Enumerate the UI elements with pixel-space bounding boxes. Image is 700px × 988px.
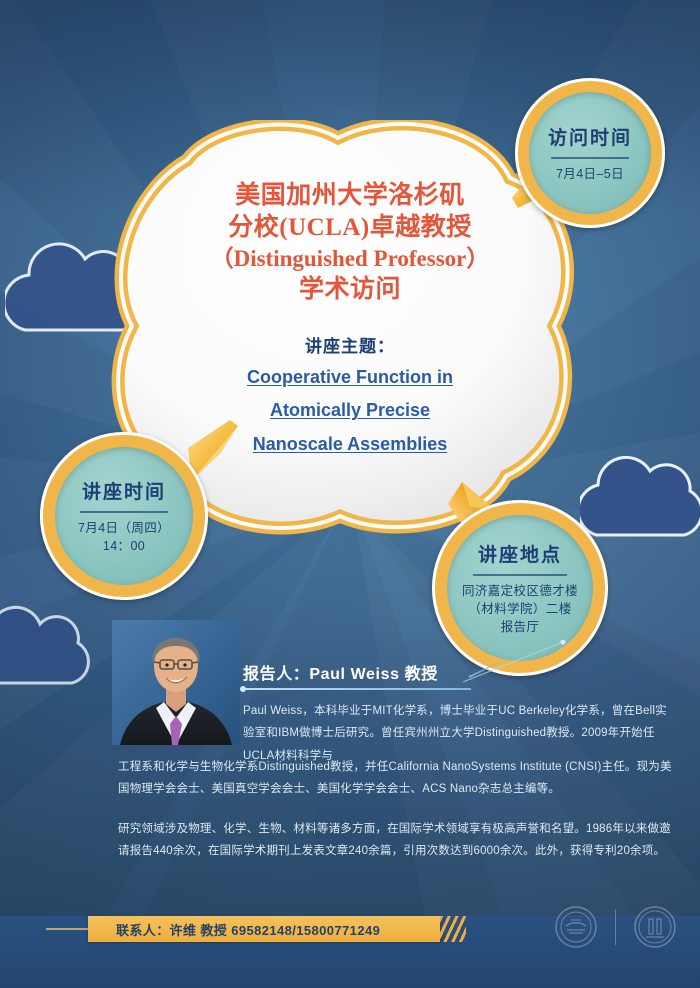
title-line-4: 学术访问: [299, 274, 401, 306]
lecture-place-divider: [473, 574, 566, 576]
lecture-place-bubble[interactable]: 讲座地点 同济嘉定校区德才楼 （材料学院）二楼 报告厅: [432, 500, 608, 676]
visit-time-value: 7月4日–5日: [556, 165, 624, 183]
cloud-decoration-right: [580, 440, 700, 560]
visit-time-heading: 访问时间: [548, 123, 632, 150]
visit-divider: [551, 157, 629, 159]
lecture-place-line-1: 同济嘉定校区德才楼: [462, 582, 578, 600]
logo-divider: [615, 909, 616, 945]
lecture-time-clock: 14：00: [103, 537, 145, 555]
topic-line-2: Atomically Precise: [270, 398, 430, 424]
title-line-1: 美国加州大学洛杉矶: [235, 180, 465, 212]
lecture-place-line-2: （材料学院）二楼: [468, 600, 571, 618]
lecture-place-line-3: 报告厅: [501, 618, 540, 636]
topic-line-3: Nanoscale Assemblies: [253, 432, 447, 458]
topic-label: 讲座主题：: [305, 332, 395, 357]
university-seal-icon: [634, 906, 676, 948]
speaker-name-block: 报告人：Paul Weiss 教授: [243, 660, 543, 694]
lecture-time-bubble[interactable]: 讲座时间 7月4日（周四） 14：00: [40, 432, 208, 600]
lecture-place-heading: 讲座地点: [478, 540, 562, 567]
tongji-seal-icon: [555, 906, 597, 948]
topic-line-1: Cooperative Function in: [247, 365, 453, 391]
speaker-portrait: [112, 620, 240, 745]
visit-time-bubble[interactable]: 访问时间 7月4日–5日: [515, 78, 665, 228]
visit-bubble-inner: 访问时间 7月4日–5日: [529, 92, 651, 214]
cloud-decoration-bottom-left: [0, 595, 110, 705]
contact-banner: 联系人：许维 教授 69582148/15800771249: [88, 916, 440, 942]
contact-text: 联系人：许维 教授 69582148/15800771249: [116, 920, 380, 939]
speaker-bio-part-2: 工程系和化学与生物化学系Distinguished教授，并任California…: [118, 756, 675, 801]
speaker-underline: [243, 688, 471, 690]
speaker-bio-part-3: 研究领域涉及物理、化学、生物、材料等诸多方面，在国际学术领域享有极高声誉和名望。…: [118, 818, 675, 863]
lecture-place-inner: 讲座地点 同济嘉定校区德才楼 （材料学院）二楼 报告厅: [447, 515, 593, 661]
poster-root: 美国加州大学洛杉矶 分校(UCLA)卓越教授 （Distinguished Pr…: [0, 0, 700, 988]
lecture-time-divider: [80, 511, 168, 513]
lecture-time-heading: 讲座时间: [82, 477, 166, 504]
lecture-time-date: 7月4日（周四）: [78, 519, 170, 537]
title-line-3: （Distinguished Professor）: [211, 244, 490, 274]
title-line-2: 分校(UCLA)卓越教授: [228, 212, 472, 244]
title-block: 美国加州大学洛杉矶 分校(UCLA)卓越教授 （Distinguished Pr…: [150, 180, 550, 480]
lecture-time-inner: 讲座时间 7月4日（周四） 14：00: [55, 447, 193, 585]
footer-logos: [555, 906, 676, 948]
